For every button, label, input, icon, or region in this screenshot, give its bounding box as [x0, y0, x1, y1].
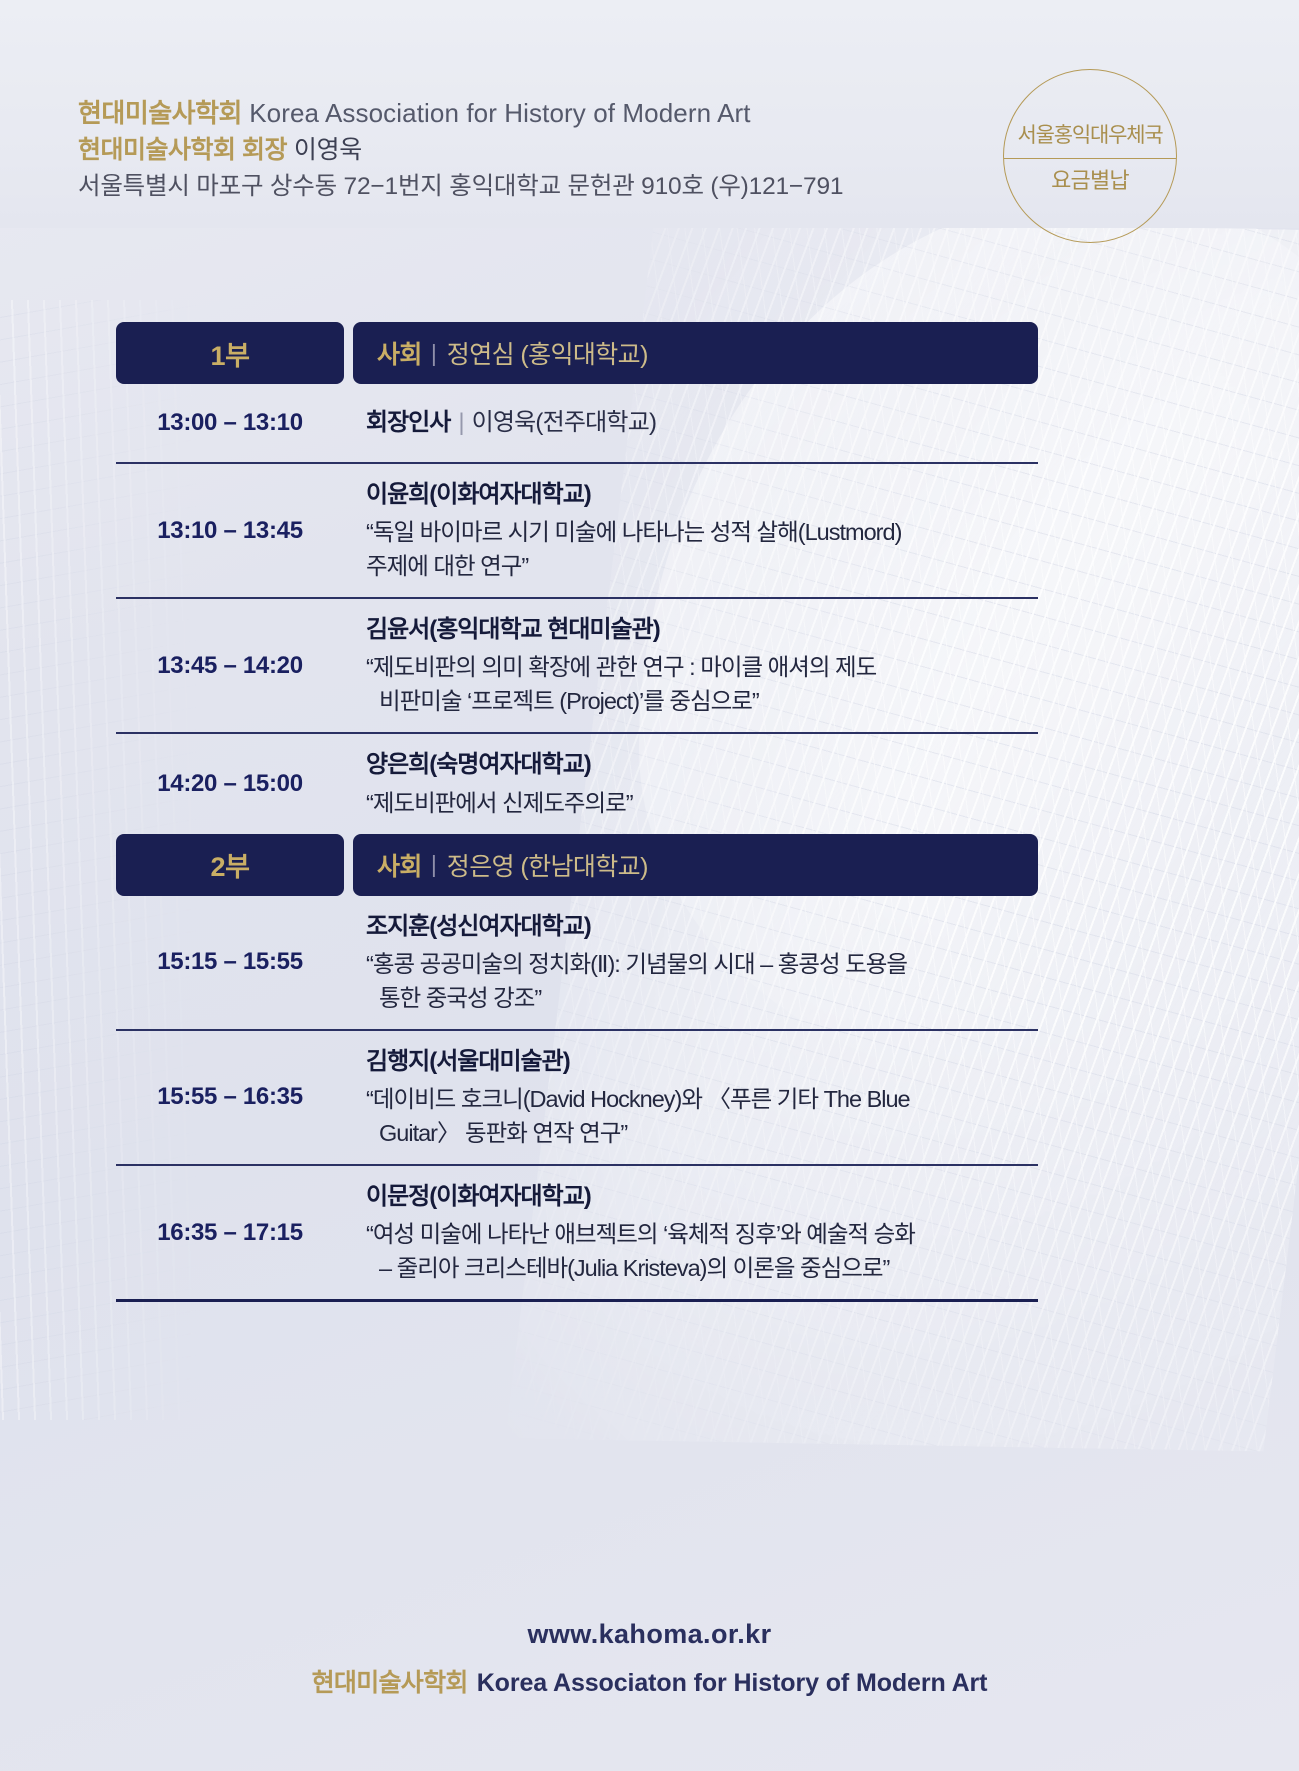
section-header-part2: 2부 사회 | 정은영 (한남대학교) — [116, 834, 1038, 896]
row-content: 양은희(숙명여자대학교) “제도비판에서 신제도주의로” — [344, 734, 1038, 833]
postal-stamp-postage: 요금별납 — [1051, 163, 1129, 195]
presenter-separator: | — [458, 409, 463, 436]
organization-name-ko: 현대미술사학회 — [78, 98, 242, 128]
postal-stamp-divider — [1004, 158, 1176, 159]
host-bar-2: 사회 | 정은영 (한남대학교) — [353, 834, 1038, 896]
row-title-line1: “제도비판에서 신제도주의로” — [366, 790, 633, 816]
row-time: 13:00 – 13:10 — [116, 409, 344, 437]
row-content: 김행지(서울대미술관) “데이비드 호크니(David Hockney)와 〈푸… — [344, 1031, 1038, 1164]
table-row: 13:00 – 13:10 회장인사|이영욱(전주대학교) — [116, 384, 1038, 464]
row-title-line2: – 줄리아 크리스테바(Julia Kristeva)의 이론을 중심으로” — [366, 1251, 1032, 1285]
president-name: 이영욱 — [294, 136, 362, 164]
row-title: “홍콩 공공미술의 정치화(Ⅱ): 기념물의 시대 – 홍콩성 도용을 통한 중… — [366, 947, 1032, 1015]
host-separator-1: | — [431, 340, 437, 367]
row-time: 16:35 – 17:15 — [116, 1219, 344, 1247]
row-title: “제도비판에서 신제도주의로” — [366, 786, 1032, 820]
row-title-line1: “제도비판의 의미 확장에 관한 연구 : 마이클 애셔의 제도 — [366, 654, 876, 680]
table-row: 13:10 – 13:45 이윤희(이화여자대학교) “독일 바이마르 시기 미… — [116, 464, 1038, 599]
row-title-line1: “홍콩 공공미술의 정치화(Ⅱ): 기념물의 시대 – 홍콩성 도용을 — [366, 951, 907, 977]
table-row: 14:20 – 15:00 양은희(숙명여자대학교) “제도비판에서 신제도주의… — [116, 734, 1038, 833]
organization-address: 서울특별시 마포구 상수동 72−1번지 홍익대학교 문헌관 910호 (우)1… — [78, 169, 843, 205]
footer-org-ko: 현대미술사학회 — [312, 1669, 468, 1697]
row-title-line2: 통한 중국성 강조” — [366, 981, 1032, 1015]
program-bottom-rule — [116, 1299, 1038, 1302]
document-footer: www.kahoma.or.kr 현대미술사학회Korea Associaton… — [0, 1619, 1299, 1699]
table-row: 15:55 – 16:35 김행지(서울대미술관) “데이비드 호크니(Davi… — [116, 1031, 1038, 1166]
footer-org-en: Korea Associaton for History of Modern A… — [477, 1669, 988, 1697]
row-presenter: 조지훈(성신여자대학교) — [366, 910, 1032, 943]
table-row: 15:15 – 15:55 조지훈(성신여자대학교) “홍콩 공공미술의 정치화… — [116, 896, 1038, 1031]
row-time: 13:10 – 13:45 — [116, 517, 344, 545]
footer-organization: 현대미술사학회Korea Associaton for History of M… — [0, 1663, 1299, 1699]
row-content: 이윤희(이화여자대학교) “독일 바이마르 시기 미술에 나타나는 성적 살해(… — [344, 464, 1038, 597]
postal-stamp-office: 서울홍익대우체국 — [1018, 119, 1163, 149]
presenter-name: 이영욱(전주대학교) — [472, 409, 657, 436]
row-presenter: 김윤서(홍익대학교 현대미술관) — [366, 613, 1032, 646]
document-header: 현대미술사학회 Korea Association for History of… — [0, 0, 1299, 230]
row-content: 김윤서(홍익대학교 현대미술관) “제도비판의 의미 확장에 관한 연구 : 마… — [344, 599, 1038, 732]
row-title: “독일 바이마르 시기 미술에 나타나는 성적 살해(Lustmord) 주제에… — [366, 515, 1032, 583]
postal-stamp: 서울홍익대우체국 요금별납 — [1003, 69, 1177, 243]
part-label-2: 2부 — [116, 834, 344, 896]
program-schedule: 1부 사회 | 정연심 (홍익대학교) 13:00 – 13:10 회장인사|이… — [116, 322, 1038, 1302]
organization-name-en: Korea Association for History of Modern … — [249, 98, 750, 128]
table-row: 16:35 – 17:15 이문정(이화여자대학교) “여성 미술에 나타난 애… — [116, 1166, 1038, 1299]
row-title-line2: Guitar〉 동판화 연작 연구” — [366, 1116, 1032, 1150]
part-label-1: 1부 — [116, 322, 344, 384]
host-bar-1: 사회 | 정연심 (홍익대학교) — [353, 322, 1038, 384]
row-time: 15:55 – 16:35 — [116, 1083, 344, 1111]
president-line: 현대미술사학회 회장 이영욱 — [78, 132, 843, 169]
row-title-line1: “데이비드 호크니(David Hockney)와 〈푸른 기타 The Blu… — [366, 1086, 910, 1112]
row-title: “데이비드 호크니(David Hockney)와 〈푸른 기타 The Blu… — [366, 1082, 1032, 1150]
row-presenter: 양은희(숙명여자대학교) — [366, 748, 1032, 781]
row-presenter: 김행지(서울대미술관) — [366, 1045, 1032, 1078]
table-row: 13:45 – 14:20 김윤서(홍익대학교 현대미술관) “제도비판의 의미… — [116, 599, 1038, 734]
organization-name-line: 현대미술사학회 Korea Association for History of… — [78, 94, 843, 132]
host-label-1: 사회 — [377, 335, 422, 371]
row-title: “여성 미술에 나타난 애브젝트의 ‘육체적 징후’와 예술적 승화 – 줄리아… — [366, 1217, 1032, 1285]
host-separator-2: | — [431, 851, 437, 878]
row-title-line2: 비판미술 ‘프로젝트 (Project)’를 중심으로” — [366, 684, 1032, 718]
row-presenter: 이윤희(이화여자대학교) — [366, 478, 1032, 511]
row-title: “제도비판의 의미 확장에 관한 연구 : 마이클 애셔의 제도 비판미술 ‘프… — [366, 650, 1032, 718]
presenter-label: 회장인사 — [366, 409, 450, 436]
host-name-1: 정연심 (홍익대학교) — [447, 335, 648, 371]
host-name-2: 정은영 (한남대학교) — [447, 847, 648, 883]
row-title-line1: “독일 바이마르 시기 미술에 나타나는 성적 살해(Lustmord) — [366, 519, 901, 545]
host-label-2: 사회 — [377, 847, 422, 883]
website-url[interactable]: www.kahoma.or.kr — [0, 1619, 1299, 1650]
row-content: 이문정(이화여자대학교) “여성 미술에 나타난 애브젝트의 ‘육체적 징후’와… — [344, 1166, 1038, 1299]
row-content: 회장인사|이영욱(전주대학교) — [344, 392, 1038, 453]
row-title-line1: “여성 미술에 나타난 애브젝트의 ‘육체적 징후’와 예술적 승화 — [366, 1221, 915, 1247]
row-time: 15:15 – 15:55 — [116, 948, 344, 976]
row-time: 14:20 – 15:00 — [116, 770, 344, 798]
organization-block: 현대미술사학회 Korea Association for History of… — [78, 94, 843, 206]
section-header-part1: 1부 사회 | 정연심 (홍익대학교) — [116, 322, 1038, 384]
row-content: 조지훈(성신여자대학교) “홍콩 공공미술의 정치화(Ⅱ): 기념물의 시대 –… — [344, 896, 1038, 1029]
president-label: 현대미술사학회 회장 — [78, 136, 287, 164]
row-title-line2: 주제에 대한 연구” — [366, 549, 1032, 583]
row-presenter: 회장인사|이영욱(전주대학교) — [366, 406, 1032, 439]
row-presenter: 이문정(이화여자대학교) — [366, 1180, 1032, 1213]
row-time: 13:45 – 14:20 — [116, 652, 344, 680]
